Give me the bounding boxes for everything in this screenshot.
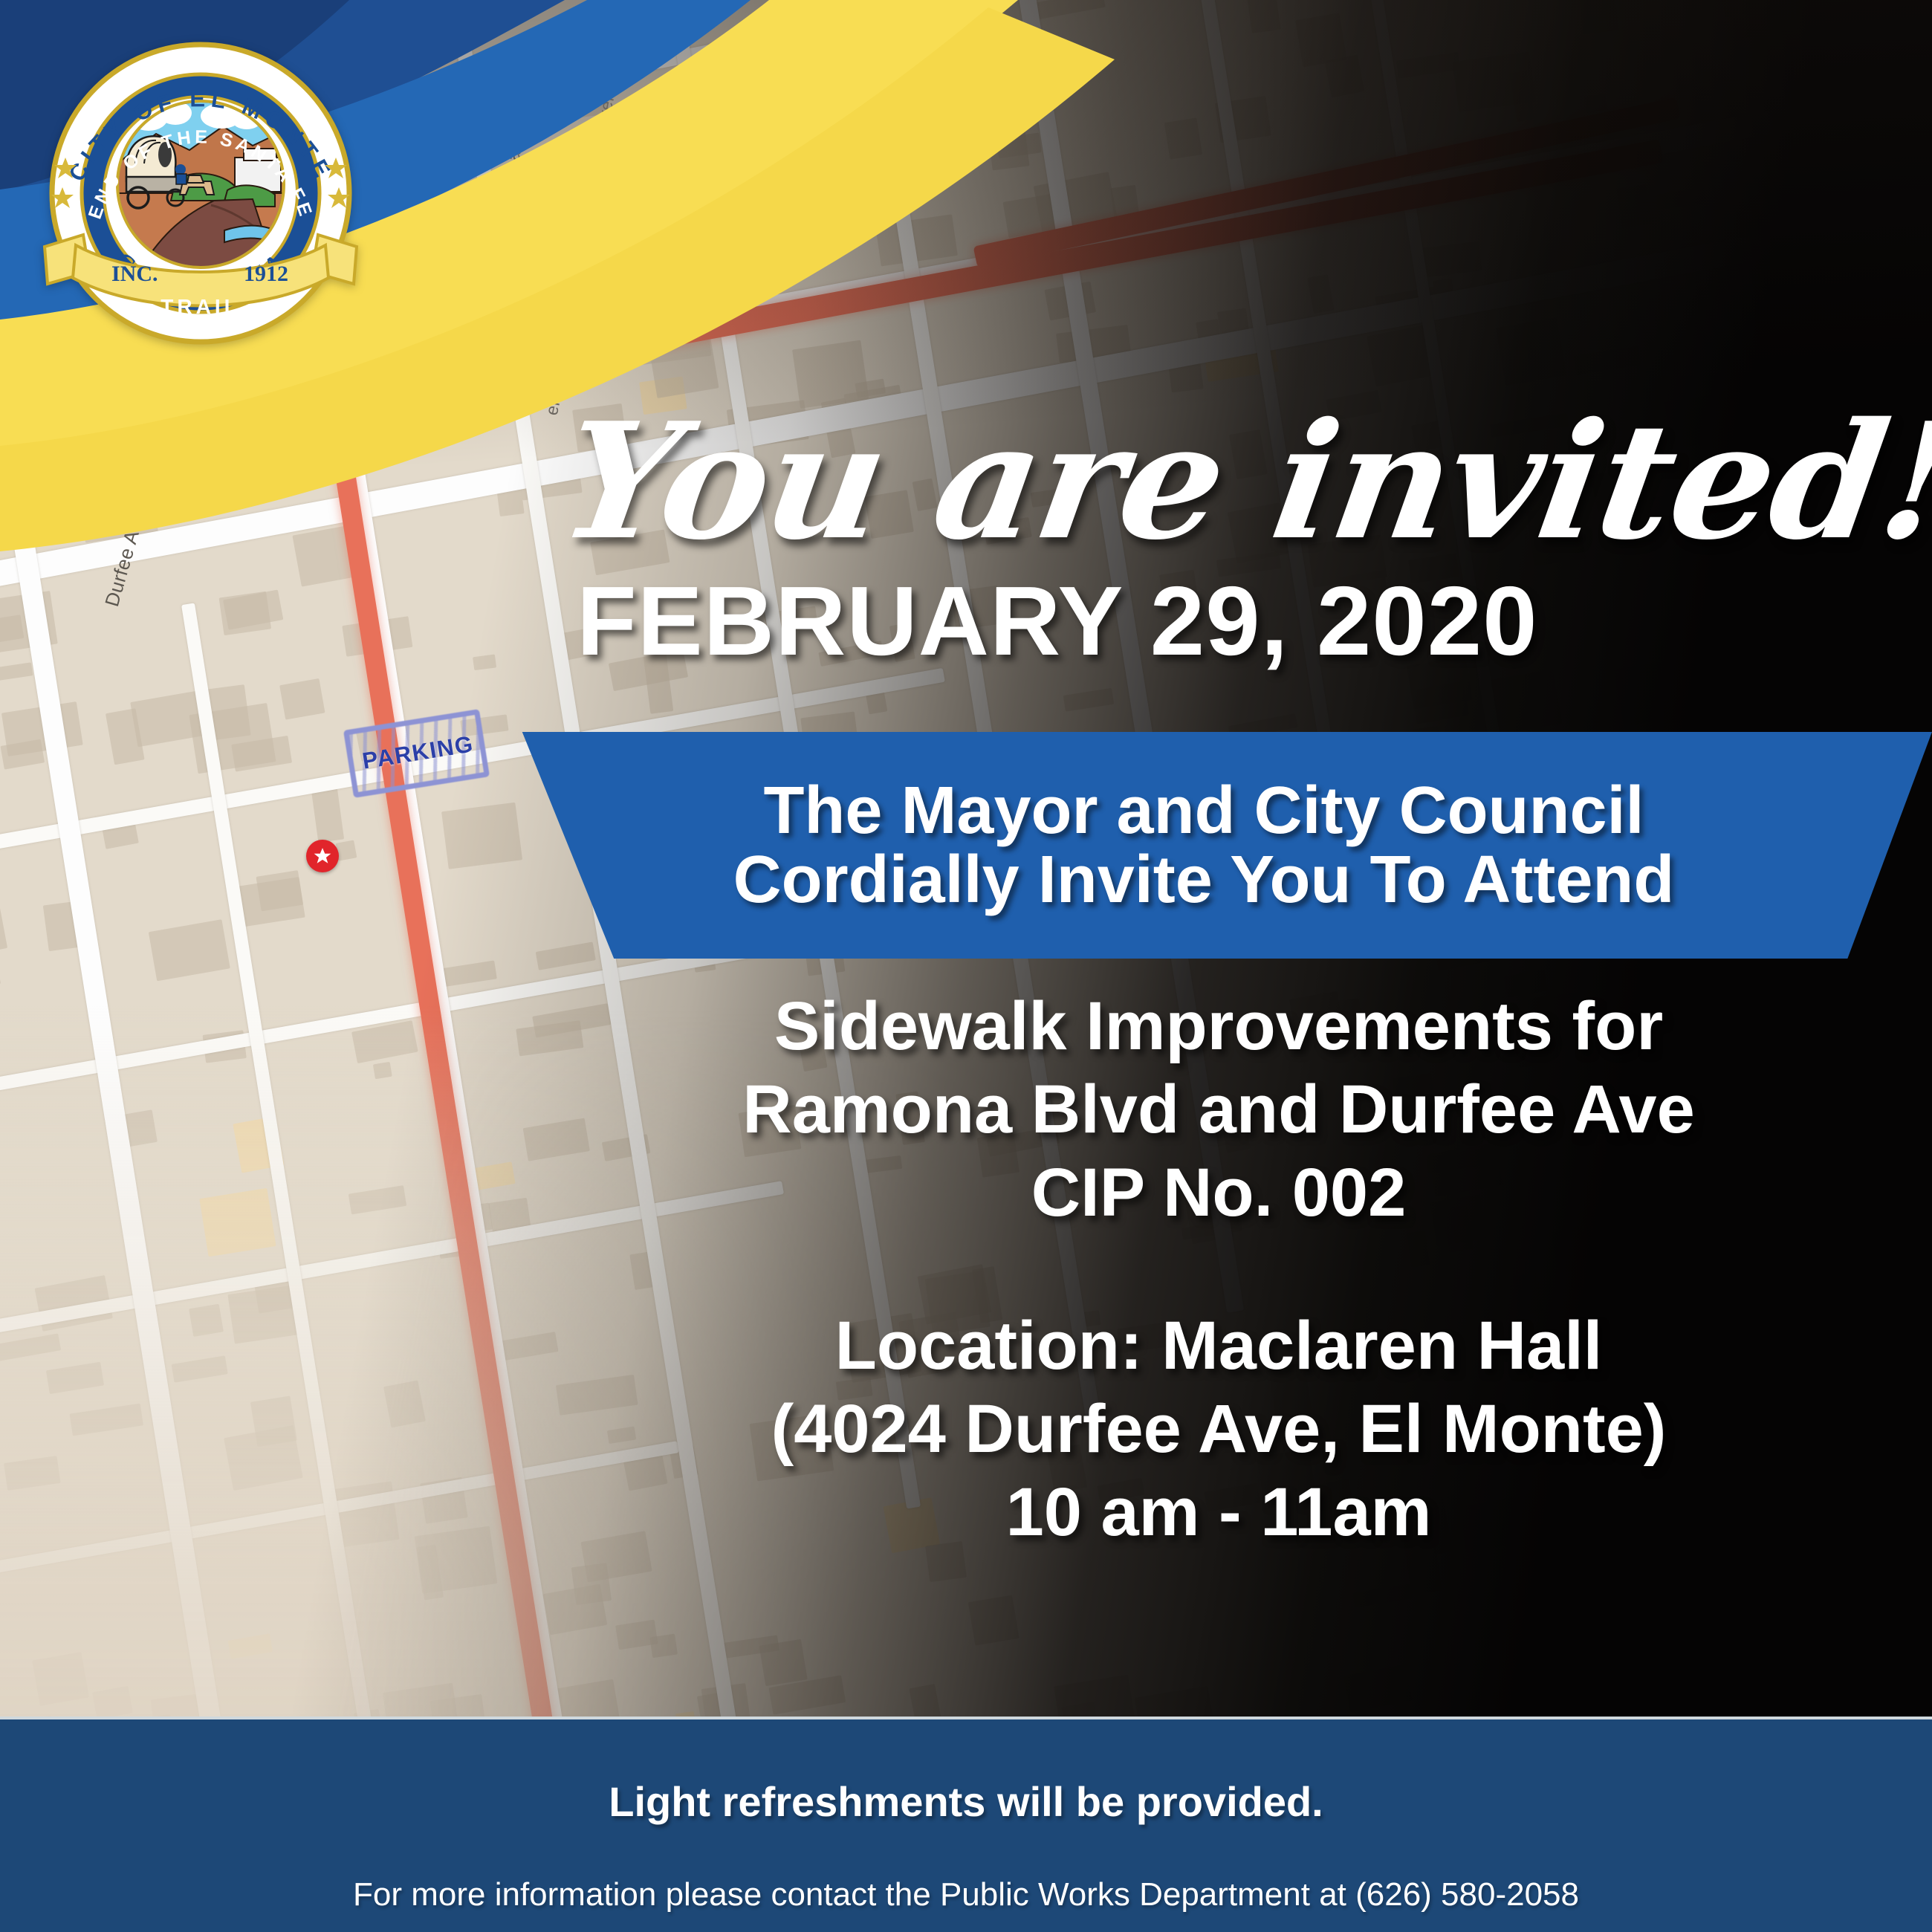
city-seal: CITY OF EL MONTE END OF THE SANTA FE CAL… xyxy=(30,22,372,364)
svg-text:1912: 1912 xyxy=(244,262,288,286)
svg-text:TRAIL: TRAIL xyxy=(161,295,240,318)
project-line-2: Ramona Blvd and Durfee Ave xyxy=(742,1072,1695,1147)
location-address: (4024 Durfee Ave, El Monte) xyxy=(771,1391,1667,1467)
project-line-1: Sidewalk Improvements for xyxy=(774,988,1663,1064)
svg-text:INC.: INC. xyxy=(111,262,158,286)
event-time: 10 am - 11am xyxy=(1006,1474,1432,1550)
footer-band: Light refreshments will be provided. For… xyxy=(0,1717,1932,1932)
script-headline: You are invited! xyxy=(552,401,1841,561)
invitation-poster: Lambert AveLambert AveDurfee AveBanniste… xyxy=(0,0,1932,1932)
banner-line-2: Cordially Invite You To Attend xyxy=(733,846,1675,915)
banner-line-1: The Mayor and City Council xyxy=(763,777,1644,846)
project-cip-number: CIP No. 002 xyxy=(565,1151,1873,1234)
refreshments-note: Light refreshments will be provided. xyxy=(0,1777,1932,1826)
mayor-council-banner: The Mayor and City Council Cordially Inv… xyxy=(476,732,1932,959)
event-date: FEBRUARY 29, 2020 xyxy=(577,572,1870,670)
location-venue: Location: Maclaren Hall xyxy=(835,1308,1603,1384)
event-location: Location: Maclaren Hall (4024 Durfee Ave… xyxy=(565,1304,1873,1555)
project-title: Sidewalk Improvements for Ramona Blvd an… xyxy=(565,985,1873,1235)
contact-info: For more information please contact the … xyxy=(0,1876,1932,1913)
invitation-content: You are invited! FEBRUARY 29, 2020 The M… xyxy=(565,0,1932,1717)
location-star-marker xyxy=(306,840,339,872)
